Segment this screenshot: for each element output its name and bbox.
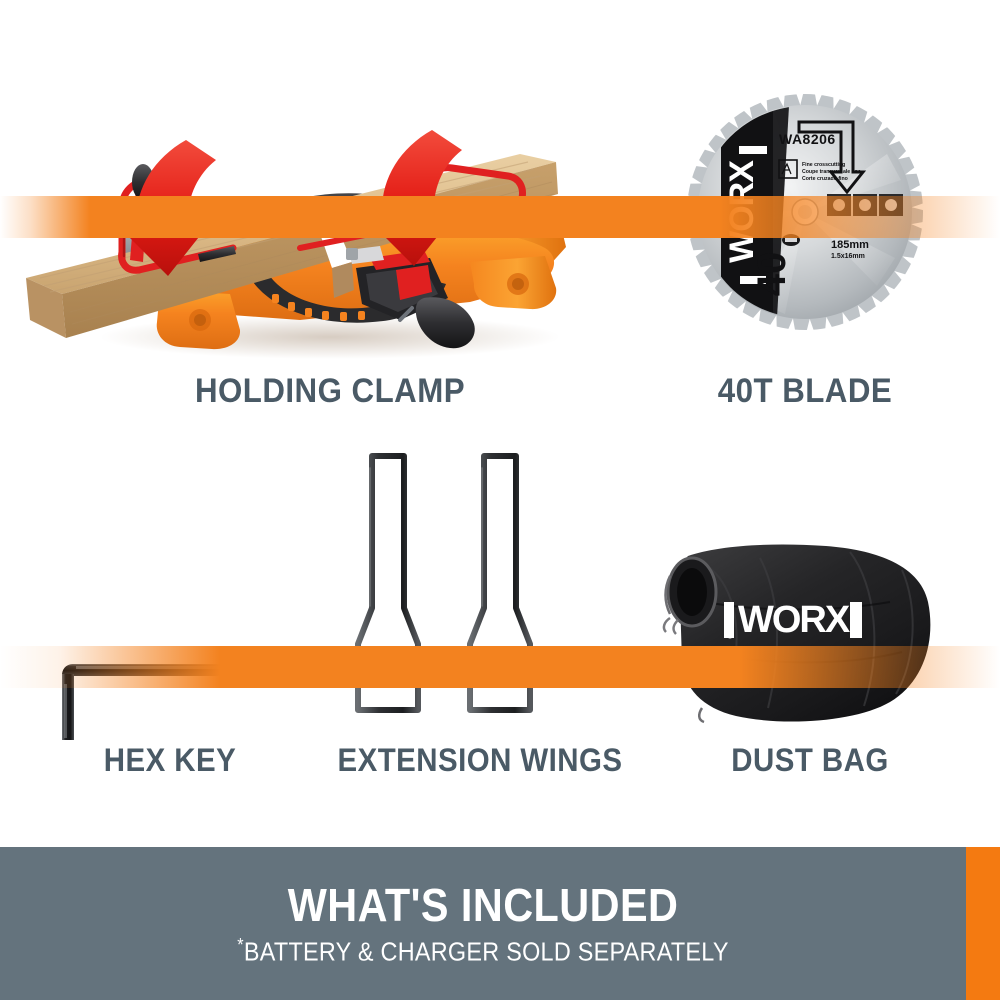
orange-accent-band-bottom xyxy=(0,646,1000,688)
whats-included-banner: WHAT'S INCLUDED *BATTERY & CHARGER SOLD … xyxy=(0,847,966,1000)
banner-orange-accent xyxy=(966,847,1000,1000)
blade-note-en: Fine crosscutting xyxy=(802,162,845,168)
blade-teeth-text: 40 xyxy=(750,252,794,297)
banner-subtitle: *BATTERY & CHARGER SOLD SEPARATELY xyxy=(237,936,728,965)
caption-holding-clamp: HOLDING CLAMP xyxy=(100,372,560,411)
caption-blade: 40T BLADE xyxy=(626,372,985,411)
orange-accent-band-top xyxy=(0,196,1000,238)
caption-hex-key: HEX KEY xyxy=(41,742,299,779)
banner-title: WHAT'S INCLUDED xyxy=(288,882,679,928)
caption-extension-wings: EXTENSION WINGS xyxy=(314,742,645,779)
caption-dust-bag: DUST BAG xyxy=(672,742,948,779)
blade-bore-text: 1.5x16mm xyxy=(831,253,865,260)
blade-diameter-text: 185mm xyxy=(831,239,869,251)
extension-wings-illustration xyxy=(350,448,590,733)
dust-bag-brand-text: WORX xyxy=(738,599,851,641)
infographic-canvas: HOLDING CLAMP xyxy=(0,0,1000,1000)
blade-note-es: Corte cruzado fino xyxy=(802,176,848,182)
dust-bag-illustration: WORX xyxy=(640,540,940,730)
blade-note-fr: Coupe transversale fine xyxy=(802,169,861,175)
banner-subtitle-text: BATTERY & CHARGER SOLD SEPARATELY xyxy=(244,937,729,967)
